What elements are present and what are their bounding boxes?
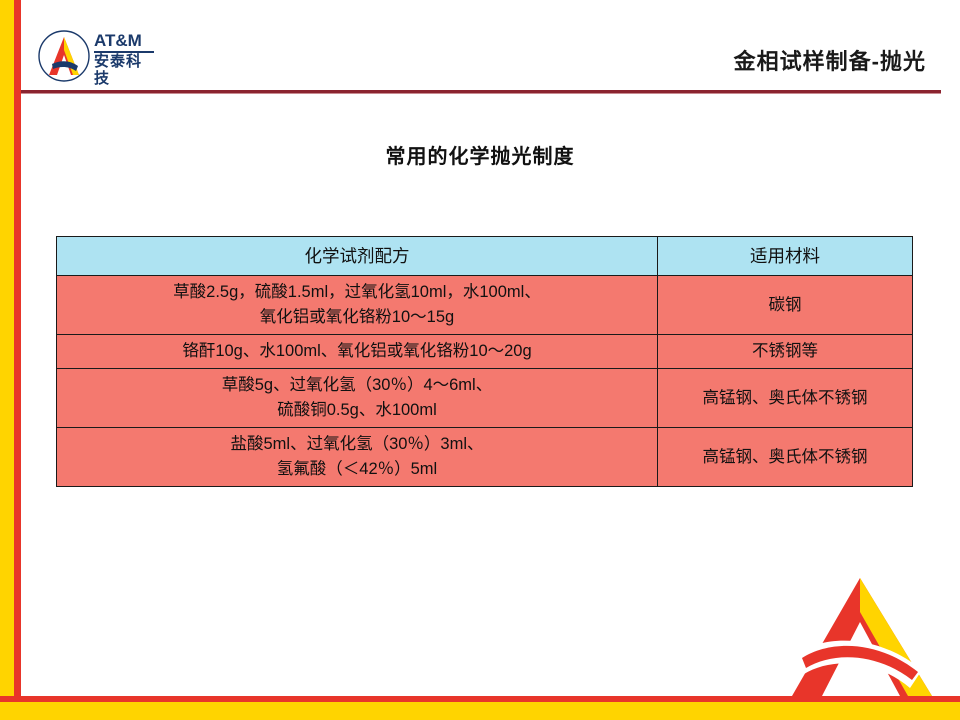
bottom-yellow-bar (0, 702, 960, 720)
table-row: 草酸5g、过氧化氢（30％）4～6ml、 硫酸铜0.5g、水100ml 高锰钢、… (57, 369, 913, 428)
slide-heading: 常用的化学抛光制度 (0, 140, 960, 169)
table-row: 草酸2.5g，硫酸1.5ml，过氧化氢10ml，水100ml、 氧化铝或氧化铬粉… (57, 276, 913, 335)
cell-material: 碳钢 (658, 276, 913, 335)
header-divider-soft (21, 93, 941, 94)
table-header-row: 化学试剂配方 适用材料 (57, 237, 913, 276)
cell-formula-line: 氢氟酸（＜42％）5ml (63, 457, 651, 482)
left-yellow-bar (0, 0, 14, 720)
cell-material: 高锰钢、奥氏体不锈钢 (658, 428, 913, 487)
table-row: 铬酐10g、水100ml、氧化铝或氧化铬粉10～20g 不锈钢等 (57, 335, 913, 369)
logo: AT&M 安泰科技 (38, 30, 156, 82)
cell-formula: 盐酸5ml、过氧化氢（30％）3ml、 氢氟酸（＜42％）5ml (57, 428, 658, 487)
cell-formula-line: 草酸5g、过氧化氢（30％）4～6ml、 (63, 373, 651, 398)
logo-chinese-name: 安泰科技 (94, 53, 156, 87)
chemical-polishing-table: 化学试剂配方 适用材料 草酸2.5g，硫酸1.5ml，过氧化氢10ml，水100… (56, 236, 913, 487)
cell-formula-line: 硫酸铜0.5g、水100ml (63, 398, 651, 423)
chemical-polishing-table-wrap: 化学试剂配方 适用材料 草酸2.5g，硫酸1.5ml，过氧化氢10ml，水100… (56, 236, 912, 487)
cell-material: 不锈钢等 (658, 335, 913, 369)
slide-header: 金相试样制备-抛光 (21, 0, 960, 92)
atm-swoosh-icon (38, 30, 90, 82)
column-header-formula: 化学试剂配方 (57, 237, 658, 276)
cell-formula: 铬酐10g、水100ml、氧化铝或氧化铬粉10～20g (57, 335, 658, 369)
table-row: 盐酸5ml、过氧化氢（30％）3ml、 氢氟酸（＜42％）5ml 高锰钢、奥氏体… (57, 428, 913, 487)
logo-latin-name: AT&M (94, 32, 156, 50)
cell-formula-line: 草酸2.5g，硫酸1.5ml，过氧化氢10ml，水100ml、 (63, 280, 651, 305)
corner-watermark-logo-icon (782, 572, 952, 702)
logo-text: AT&M 安泰科技 (94, 32, 156, 87)
cell-formula-line: 氧化铝或氧化铬粉10～15g (63, 305, 651, 330)
slide: 金相试样制备-抛光 AT&M 安泰科技 常用的化学抛光制度 (0, 0, 960, 720)
cell-material: 高锰钢、奥氏体不锈钢 (658, 369, 913, 428)
cell-formula: 草酸5g、过氧化氢（30％）4～6ml、 硫酸铜0.5g、水100ml (57, 369, 658, 428)
cell-formula-line: 铬酐10g、水100ml、氧化铝或氧化铬粉10～20g (63, 339, 651, 364)
cell-formula: 草酸2.5g，硫酸1.5ml，过氧化氢10ml，水100ml、 氧化铝或氧化铬粉… (57, 276, 658, 335)
page-title: 金相试样制备-抛光 (21, 44, 926, 76)
column-header-material: 适用材料 (658, 237, 913, 276)
left-red-bar (14, 0, 21, 720)
cell-formula-line: 盐酸5ml、过氧化氢（30％）3ml、 (63, 432, 651, 457)
